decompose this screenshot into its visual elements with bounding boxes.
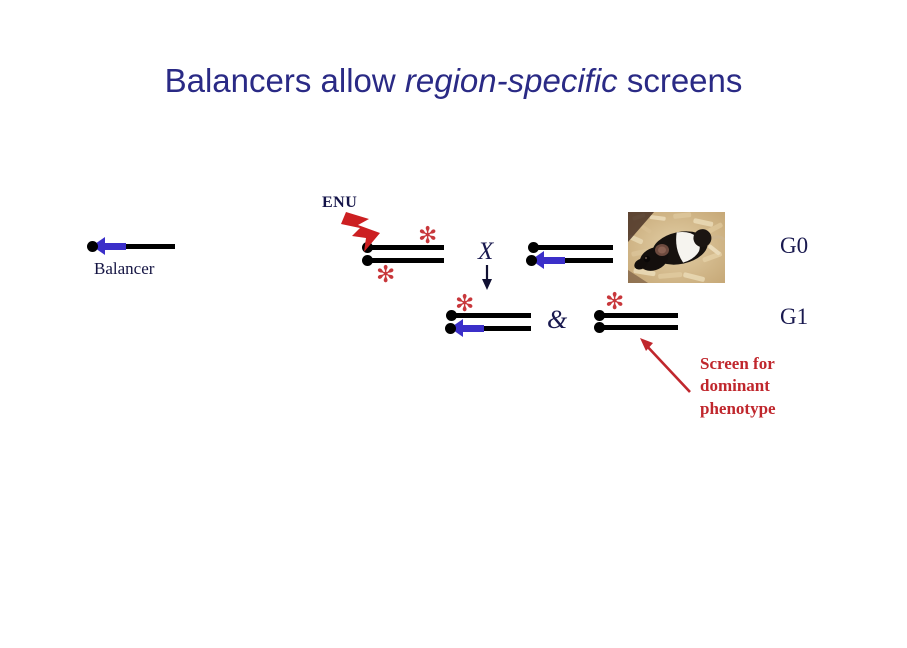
centromere-dot-icon: [87, 241, 98, 252]
enu-label: ENU: [322, 194, 357, 212]
mouse-photo-image: [628, 212, 725, 283]
screen-annotation: Screen for dominant phenotype: [700, 353, 776, 420]
screen-annotation-line-3: phenotype: [700, 398, 776, 420]
balancer-label: Balancer: [94, 259, 154, 279]
mutation-asterisk: ✻: [418, 224, 437, 247]
mutation-asterisk: ✻: [376, 263, 395, 286]
chromosome-strand: [368, 245, 444, 250]
mutation-asterisk: ✻: [455, 292, 474, 315]
page-title: Balancers allow region-specific screens: [0, 62, 907, 100]
centromere-dot-icon: [594, 310, 605, 321]
centromere-dot-icon: [526, 255, 537, 266]
balancer-arrow-shaft: [104, 243, 126, 250]
and-operator-label: &: [547, 305, 567, 335]
screen-annotation-line-2: dominant: [700, 375, 776, 397]
chromosome-strand: [600, 325, 678, 330]
screen-annotation-line-1: Screen for: [700, 353, 776, 375]
chromosome-strand: [452, 313, 531, 318]
generation-label-g1: G1: [780, 304, 808, 330]
chromosome-strand: [534, 245, 613, 250]
centromere-dot-icon: [445, 323, 456, 334]
slide-canvas: Balancers allow region-specific screens …: [0, 0, 907, 648]
title-text-after: screens: [618, 62, 743, 99]
down-arrow-icon: [482, 265, 492, 290]
mouse-photo: [628, 212, 725, 283]
cross-operator-label: X: [478, 238, 493, 266]
title-text-before: Balancers allow: [165, 62, 405, 99]
mutation-asterisk: ✻: [605, 290, 624, 313]
title-emphasis: region-specific: [405, 62, 618, 99]
balancer-arrow-shaft: [462, 325, 484, 332]
centromere-dot-icon: [362, 255, 373, 266]
screen-pointer-arrow-icon: [640, 338, 690, 392]
balancer-arrow-shaft: [543, 257, 565, 264]
centromere-dot-icon: [362, 242, 373, 253]
chromosome-strand: [600, 313, 678, 318]
centromere-dot-icon: [594, 322, 605, 333]
generation-label-g0: G0: [780, 233, 808, 259]
